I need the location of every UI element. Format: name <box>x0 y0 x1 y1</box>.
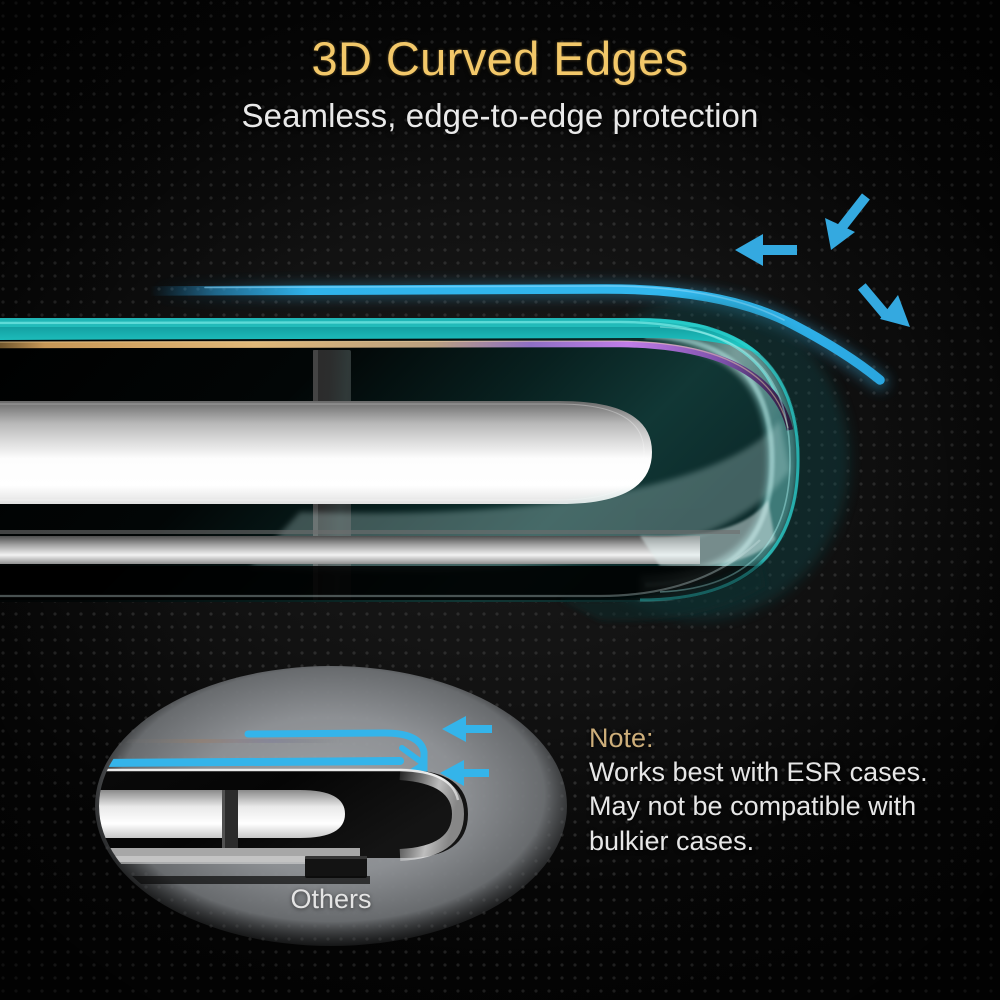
header-block: 3D Curved Edges Seamless, edge-to-edge p… <box>0 34 1000 135</box>
inset-flat-protector-lower <box>90 761 400 763</box>
note-line: Works best with ESR cases. <box>589 755 961 789</box>
note-block: Note: Works best with ESR cases. May not… <box>589 722 961 858</box>
inset-highlight-bar <box>0 790 345 838</box>
note-label: Note: <box>589 722 961 755</box>
product-graphic-canvas: 3D Curved Edges Seamless, edge-to-edge p… <box>0 0 1000 1000</box>
phone-edge-illustration <box>0 300 850 621</box>
phone-lower-strip <box>0 536 700 564</box>
others-caption: Others <box>101 884 561 915</box>
inset-port-cutout <box>305 856 367 878</box>
arrow-down-right-icon <box>858 283 910 327</box>
page-subtitle: Seamless, edge-to-edge protection <box>0 97 1000 135</box>
phone-highlight-bar <box>0 401 652 504</box>
note-line: bulkier cases. <box>589 824 961 858</box>
arrow-left-icon <box>735 234 797 266</box>
arrow-down-left-icon <box>825 193 870 250</box>
note-line: May not be compatible with <box>589 789 961 823</box>
page-title: 3D Curved Edges <box>0 34 1000 83</box>
